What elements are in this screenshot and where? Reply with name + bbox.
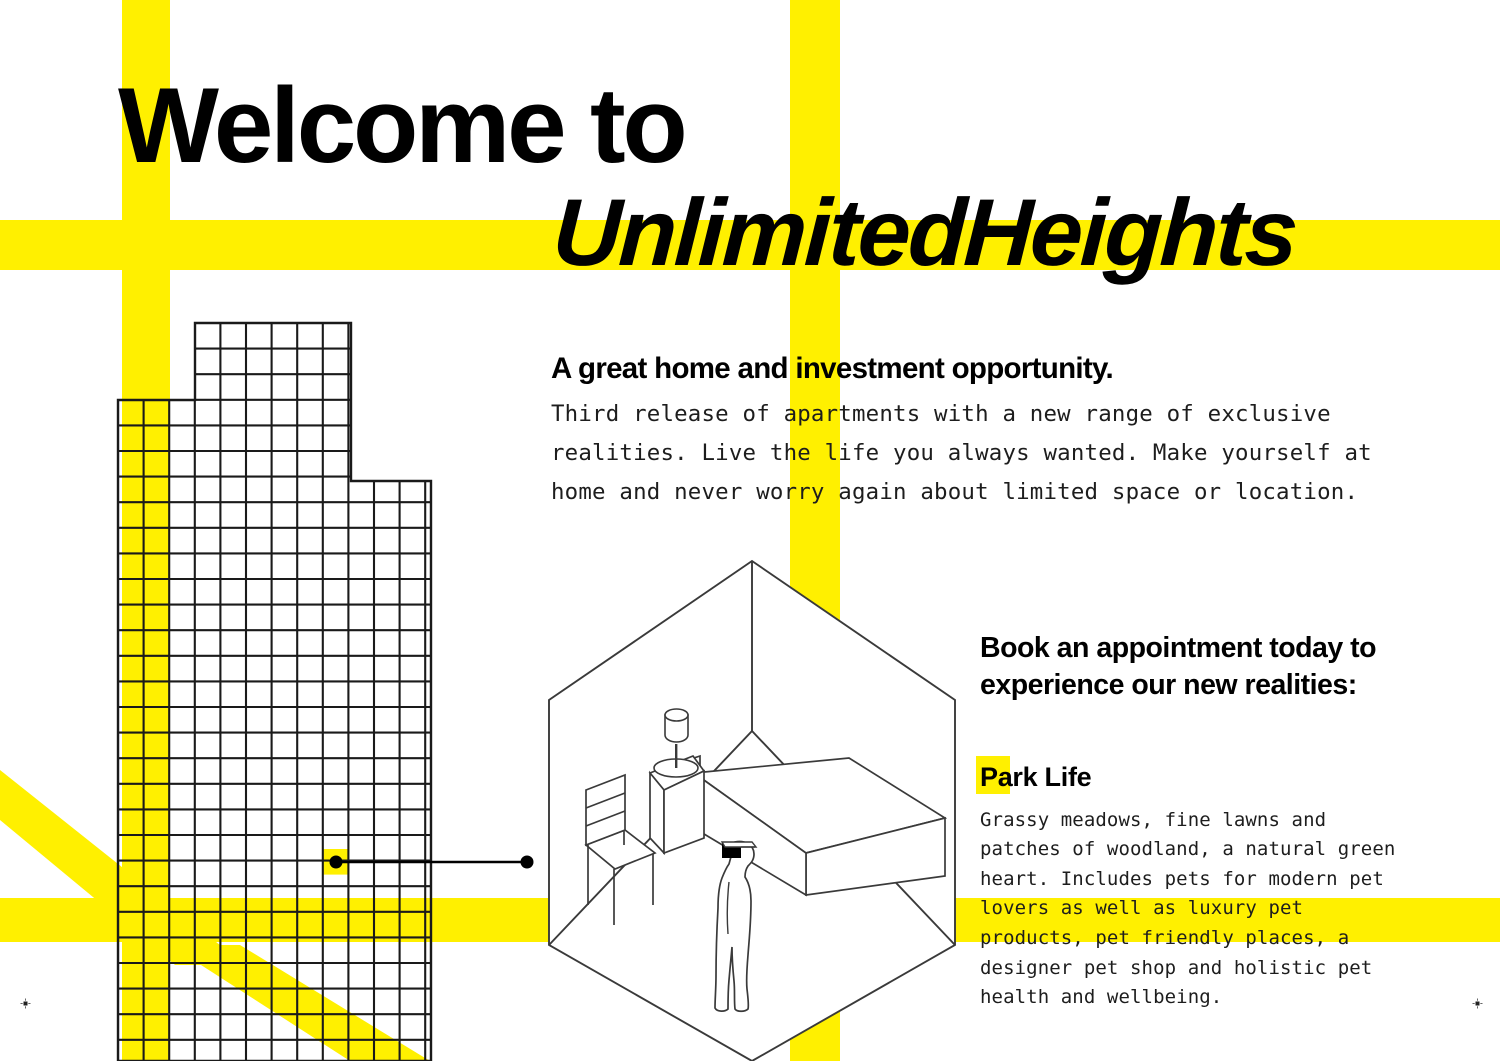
intro-body: Third release of apartments with a new r… xyxy=(551,395,1381,512)
headline-line-1: Welcome to xyxy=(118,72,685,179)
headline-line-2: UnlimitedHeights xyxy=(551,186,1299,281)
poster-canvas: Welcome to UnlimitedHeights A great home… xyxy=(0,0,1500,1061)
intro-block: A great home and investment opportunity.… xyxy=(551,352,1396,512)
offer-item-park-life: Park Life Grassy meadows, fine lawns and… xyxy=(980,761,1410,1013)
offer-title: Park Life xyxy=(980,761,1091,795)
registration-asterisk-left xyxy=(19,997,32,1010)
offer-column: Book an appointment today to experience … xyxy=(980,630,1410,1013)
appointment-heading: Book an appointment today to experience … xyxy=(980,630,1380,705)
intro-heading: A great home and investment opportunity. xyxy=(551,352,1396,386)
poster-text: Welcome to UnlimitedHeights A great home… xyxy=(0,0,1500,1061)
offer-body: Grassy meadows, fine lawns and patches o… xyxy=(980,806,1400,1013)
registration-asterisk-right xyxy=(1471,997,1484,1010)
